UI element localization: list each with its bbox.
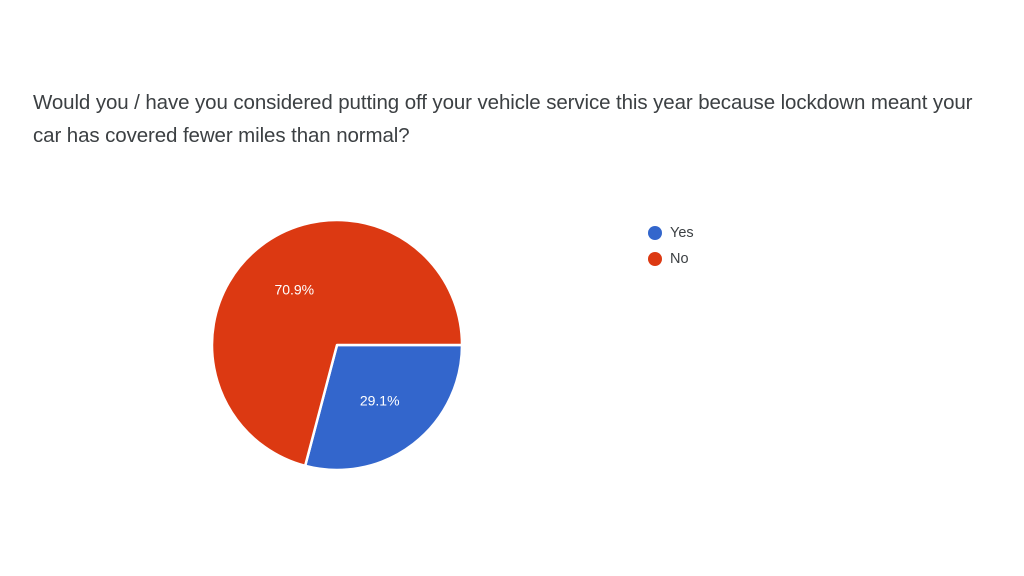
- legend-label-no: No: [670, 252, 689, 266]
- pie-chart: 29.1% 70.9%: [212, 220, 462, 470]
- chart-question-title: Would you / have you considered putting …: [33, 86, 978, 152]
- legend-swatch-yes-icon: [648, 226, 662, 240]
- chart-legend: Yes No: [648, 220, 828, 272]
- chart-canvas: Would you / have you considered putting …: [0, 0, 1024, 576]
- pie-chart-area: 29.1% 70.9% Yes No: [0, 180, 1024, 540]
- legend-item-yes[interactable]: Yes: [648, 220, 828, 246]
- pie-slices: [212, 220, 462, 470]
- legend-label-yes: Yes: [670, 226, 694, 240]
- pie-chart-svg: 29.1% 70.9%: [212, 220, 462, 470]
- pie-slice-label-yes: 29.1%: [360, 392, 400, 408]
- legend-item-no[interactable]: No: [648, 246, 828, 272]
- legend-swatch-no-icon: [648, 252, 662, 266]
- pie-slice-label-no: 70.9%: [274, 282, 314, 298]
